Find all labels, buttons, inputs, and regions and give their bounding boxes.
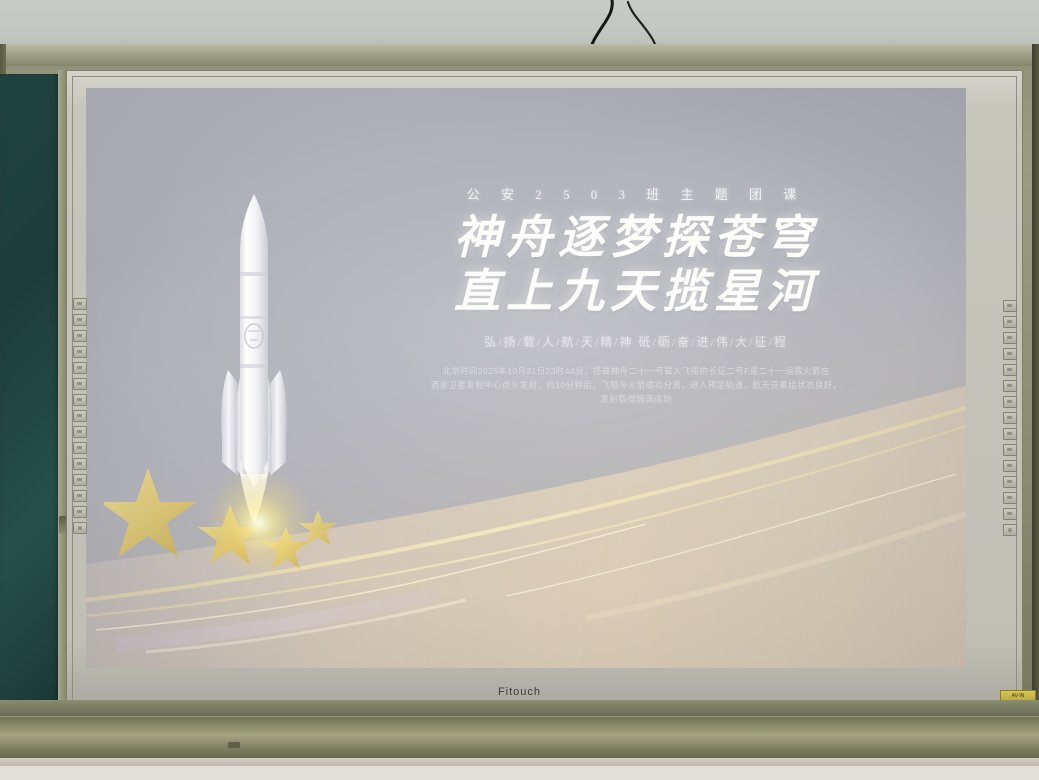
key-home-icon[interactable] (1003, 492, 1017, 504)
key-up-icon[interactable] (1003, 332, 1017, 344)
key-blank-icon[interactable] (73, 410, 87, 422)
rocket-illustration (194, 188, 314, 528)
tray-screw (228, 742, 240, 748)
projection-screen[interactable]: 公 安 2 5 0 3 班 主 题 团 课 神舟逐梦探苍穹 直上九天揽星河 弘/… (86, 88, 966, 668)
key-power-icon[interactable] (73, 522, 87, 534)
key-up-icon[interactable] (73, 330, 87, 342)
key-hdmi-icon[interactable] (1003, 444, 1017, 456)
key-source-icon[interactable] (1003, 316, 1017, 328)
key-settings-icon[interactable] (73, 474, 87, 486)
paragraph-line-1: 北京时间2025年10月31日23时44分，搭载神舟二十一号载人飞船的长征二号F… (386, 364, 886, 378)
key-pc-icon[interactable] (73, 426, 87, 438)
key-settings-icon[interactable] (1003, 476, 1017, 488)
frame-right-edge (1032, 44, 1039, 720)
key-freeze-icon[interactable] (73, 394, 87, 406)
left-control-key-strip[interactable] (73, 298, 87, 534)
key-home-icon[interactable] (73, 490, 87, 502)
key-back-icon[interactable] (73, 506, 87, 518)
key-volume-down-icon[interactable] (73, 378, 87, 390)
key-power-icon[interactable] (1003, 524, 1017, 536)
key-down-icon[interactable] (1003, 348, 1017, 360)
key-hdmi-icon[interactable] (73, 442, 87, 454)
frame-top-rail (0, 44, 1039, 66)
key-menu-icon[interactable] (73, 298, 87, 310)
slide-tagline: 弘/扬/载/人/航/天/精/神 砥/砺/奋/进/伟/大/征/程 (386, 333, 886, 350)
slide-paragraph: 北京时间2025年10月31日23时44分，搭载神舟二十一号载人飞船的长征二号F… (386, 364, 886, 406)
classroom-whiteboard-photo: 公 安 2 5 0 3 班 主 题 团 课 神舟逐梦探苍穹 直上九天揽星河 弘/… (0, 0, 1039, 780)
paragraph-line-2: 酒泉卫星发射中心点火发射，约10分钟后，飞船与火箭成功分离，进入预定轨道，航天员… (386, 378, 886, 392)
key-source-icon[interactable] (73, 314, 87, 326)
device-brand-label: Fitouch (0, 686, 1039, 698)
key-volume-down-icon[interactable] (1003, 380, 1017, 392)
slide-title-line-2: 直上九天揽星河 (386, 265, 886, 319)
key-volume-up-icon[interactable] (73, 362, 87, 374)
key-blank-icon[interactable] (1003, 412, 1017, 424)
key-volume-up-icon[interactable] (1003, 364, 1017, 376)
key-freeze-icon[interactable] (1003, 396, 1017, 408)
key-menu-icon[interactable] (1003, 300, 1017, 312)
key-down-icon[interactable] (73, 346, 87, 358)
paragraph-line-3: 发射取得圆满成功 (386, 392, 886, 406)
right-control-key-strip[interactable] (1003, 300, 1017, 536)
key-pc-icon[interactable] (1003, 428, 1017, 440)
tray-lip (0, 758, 1039, 766)
slide-title-line-1: 神舟逐梦探苍穹 (386, 211, 886, 265)
slide-text-block: 公 安 2 5 0 3 班 主 题 团 课 神舟逐梦探苍穹 直上九天揽星河 弘/… (386, 184, 886, 406)
slide-eyebrow: 公 安 2 5 0 3 班 主 题 团 课 (386, 184, 886, 203)
chalk-tray (0, 716, 1039, 762)
key-usb-icon[interactable] (1003, 460, 1017, 472)
key-back-icon[interactable] (1003, 508, 1017, 520)
key-usb-icon[interactable] (73, 458, 87, 470)
sliding-blackboard-panel[interactable] (0, 74, 63, 704)
presentation-slide: 公 安 2 5 0 3 班 主 题 团 课 神舟逐梦探苍穹 直上九天揽星河 弘/… (86, 88, 966, 668)
